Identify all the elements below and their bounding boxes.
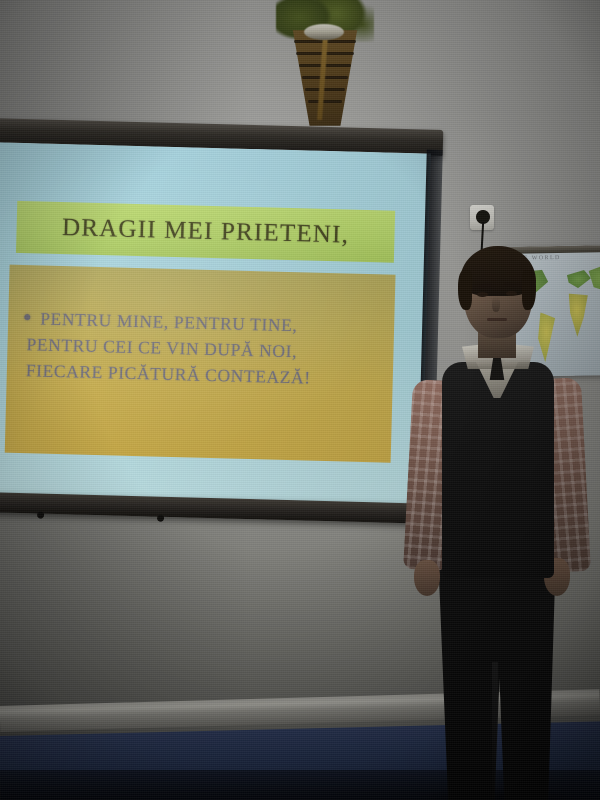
plant-pot (304, 24, 344, 40)
slide-title-band: DRAGII MEI PRIETENI, (16, 201, 395, 263)
slide-bullet-item: PENTRU MINE, PENTRU TINE, PENTRU CEI CE … (23, 305, 385, 392)
slide-body-text: PENTRU MINE, PENTRU TINE, PENTRU CEI CE … (39, 306, 385, 393)
mouth (487, 318, 507, 321)
eye-left (477, 292, 488, 297)
basket-rib (308, 100, 342, 103)
screen-surface: DRAGII MEI PRIETENI, PENTRU MINE, PENTRU… (0, 142, 431, 505)
slide-title: DRAGII MEI PRIETENI, (62, 214, 350, 250)
screen-hook (157, 515, 164, 522)
basket-rib (305, 88, 345, 91)
hair-side-right (522, 270, 536, 310)
nose (492, 296, 500, 312)
screen-hook (37, 511, 44, 518)
photograph: THE WORLD DRAGII MEI PRIETENI, PENTRU MI… (0, 0, 600, 800)
hanging-plant (268, 0, 388, 128)
presentation-slide: DRAGII MEI PRIETENI, PENTRU MINE, PENTRU… (0, 142, 431, 505)
person-presenter (392, 238, 600, 800)
leg-separation (492, 662, 498, 800)
slide-body-box: PENTRU MINE, PENTRU TINE, PENTRU CEI CE … (5, 265, 396, 463)
projection-screen: DRAGII MEI PRIETENI, PENTRU MINE, PENTRU… (0, 118, 443, 542)
bullet-dot-icon (24, 314, 30, 320)
hair-side-left (458, 270, 472, 310)
hand-left (414, 560, 440, 596)
eye-right (506, 291, 517, 296)
